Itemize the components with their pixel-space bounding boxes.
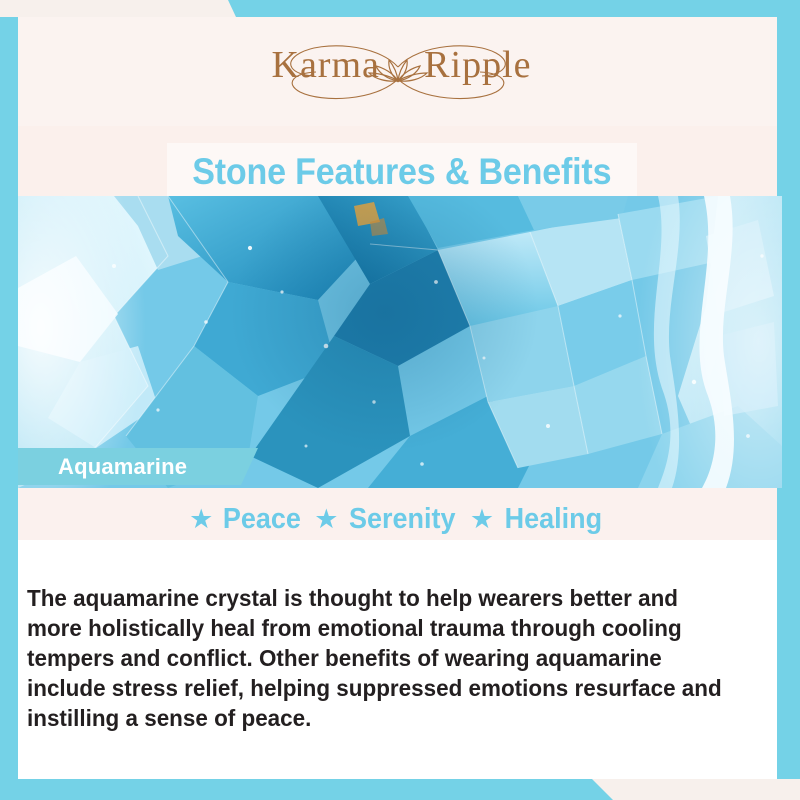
keyword-peace: ★ Peace xyxy=(189,503,304,536)
keyword-label: Healing xyxy=(505,503,602,536)
keyword-label: Serenity xyxy=(349,503,455,536)
stone-name-banner: Aquamarine xyxy=(18,448,258,485)
content-canvas: Karma Ripple Stone Features & Benefits xyxy=(18,17,777,779)
star-icon: ★ xyxy=(189,506,213,533)
brand-name-right: Ripple xyxy=(424,46,531,84)
keyword-healing: ★ Healing xyxy=(470,503,606,536)
star-icon: ★ xyxy=(470,506,494,533)
brand-logo: Karma Ripple xyxy=(18,17,777,126)
title-band: Stone Features & Benefits xyxy=(18,126,777,205)
frame-top-accent xyxy=(0,0,800,17)
title-box: Stone Features & Benefits xyxy=(167,143,637,200)
stone-name: Aquamarine xyxy=(58,454,187,480)
crystal-image: Aquamarine xyxy=(18,196,782,488)
infographic-page: Karma Ripple Stone Features & Benefits xyxy=(0,0,800,800)
star-icon: ★ xyxy=(314,506,338,533)
frame-left-accent xyxy=(0,17,18,779)
brand-name-left: Karma xyxy=(272,46,380,84)
keyword-row: ★ Peace ★ Serenity ★ Healing xyxy=(18,498,777,540)
description-paragraph: The aquamarine crystal is thought to hel… xyxy=(27,583,738,733)
keyword-label: Peace xyxy=(223,503,301,536)
keyword-serenity: ★ Serenity xyxy=(314,503,460,536)
page-title: Stone Features & Benefits xyxy=(192,151,611,193)
frame-bottom-accent xyxy=(0,779,800,800)
crystal-facets xyxy=(18,196,782,488)
